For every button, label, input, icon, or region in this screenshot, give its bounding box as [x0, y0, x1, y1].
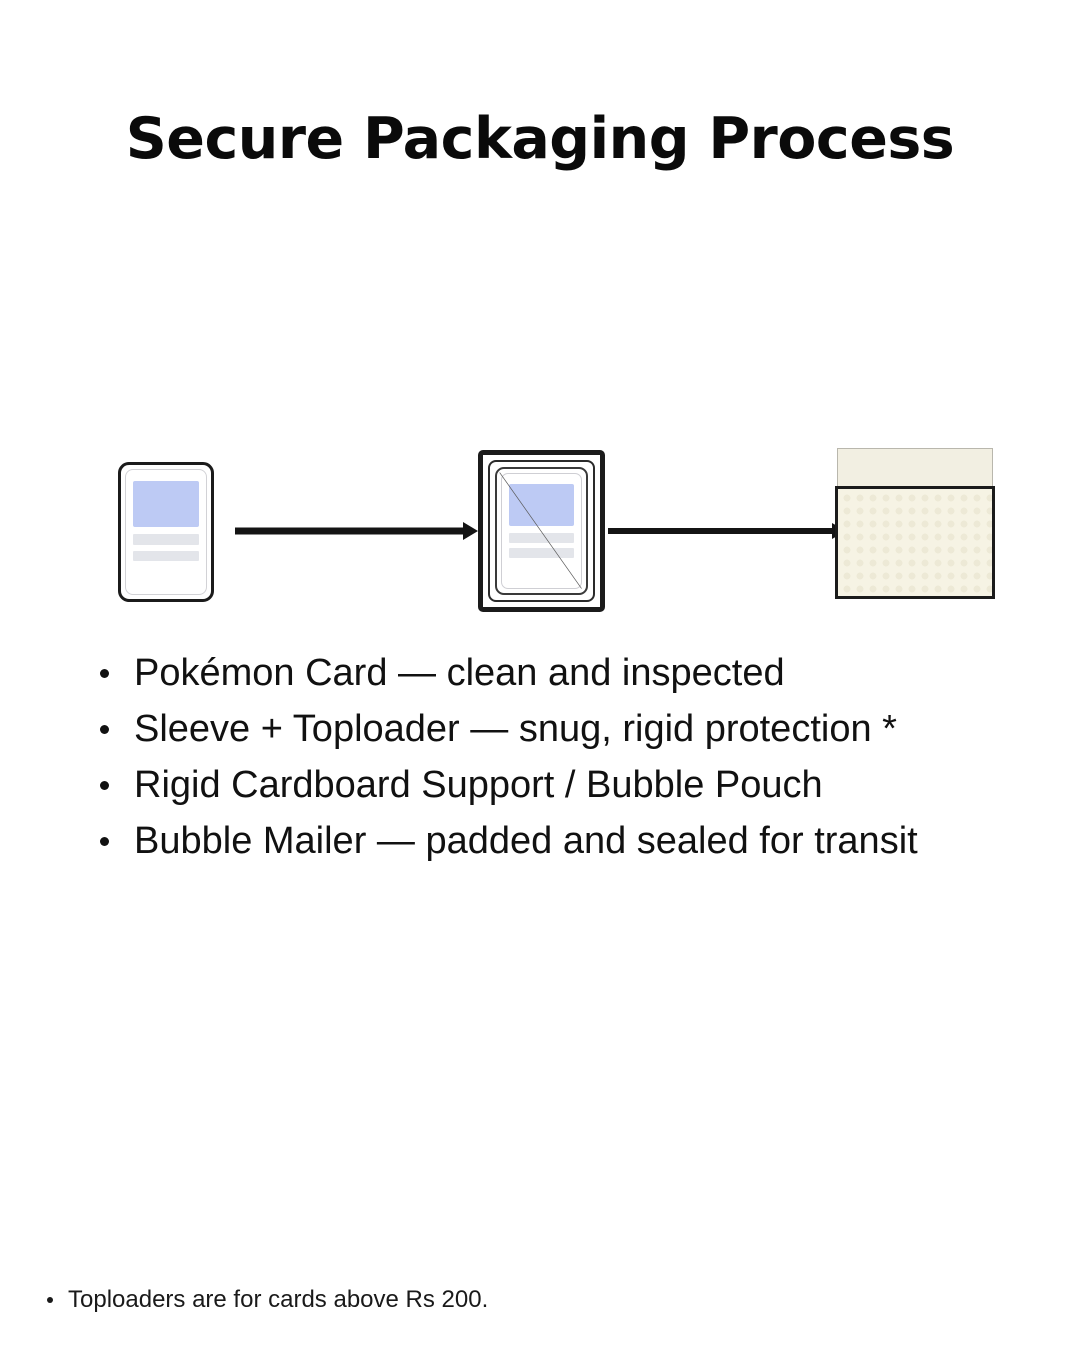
list-item: Pokémon Card — clean and inspected	[92, 645, 1052, 701]
arrow-head	[463, 522, 478, 540]
list-item-label: Bubble Mailer — padded and sealed for tr…	[134, 820, 918, 862]
slide-root: { "slide": { "title": "Secure Packaging …	[0, 0, 1080, 1350]
page-title: Secure Packaging Process	[0, 108, 1080, 171]
list-item-label: Sleeve + Toploader — snug, rigid protect…	[134, 708, 897, 750]
bullet-dot-icon	[100, 837, 109, 846]
diagram-step-sleeve-toploader	[478, 450, 605, 612]
diagram-step-pokemon-card	[118, 462, 214, 602]
card-text-line	[509, 548, 574, 558]
card-sleeve	[495, 467, 588, 595]
diagram-step-bubble-mailer	[835, 448, 995, 600]
list-item: Bubble Mailer — padded and sealed for tr…	[92, 813, 1052, 869]
list-item-label: Rigid Cardboard Support / Bubble Pouch	[134, 764, 823, 806]
packaging-steps-list: Pokémon Card — clean and inspected Sleev…	[92, 645, 1052, 869]
list-item-label: Pokémon Card — clean and inspected	[134, 652, 785, 694]
card-text-line	[509, 533, 574, 543]
footnote-item: Toploaders are for cards above Rs 200.	[40, 1283, 940, 1317]
mailer-flap	[837, 448, 993, 488]
arrow-shaft	[235, 528, 465, 535]
card-artwork-panel	[133, 481, 199, 527]
bullet-dot-icon	[100, 725, 109, 734]
bubble-pattern	[838, 489, 992, 596]
card-text-line	[133, 551, 199, 562]
card-text-line	[133, 534, 199, 545]
mailer-body	[835, 486, 995, 599]
bullet-dot-icon	[100, 669, 109, 678]
card-inner-border	[125, 469, 207, 595]
card-artwork-panel	[509, 484, 574, 526]
packaging-flow-diagram	[0, 430, 1080, 630]
list-item: Sleeve + Toploader — snug, rigid protect…	[92, 701, 1052, 757]
footnote-list: Toploaders are for cards above Rs 200.	[40, 1283, 940, 1317]
footnote-label: Toploaders are for cards above Rs 200.	[68, 1286, 488, 1313]
bullet-dot-icon	[100, 781, 109, 790]
list-item: Rigid Cardboard Support / Bubble Pouch	[92, 757, 1052, 813]
sleeved-card	[501, 473, 582, 589]
arrow-shaft	[608, 528, 836, 534]
toploader-inner-wall	[488, 460, 595, 602]
bullet-dot-icon	[47, 1297, 53, 1303]
